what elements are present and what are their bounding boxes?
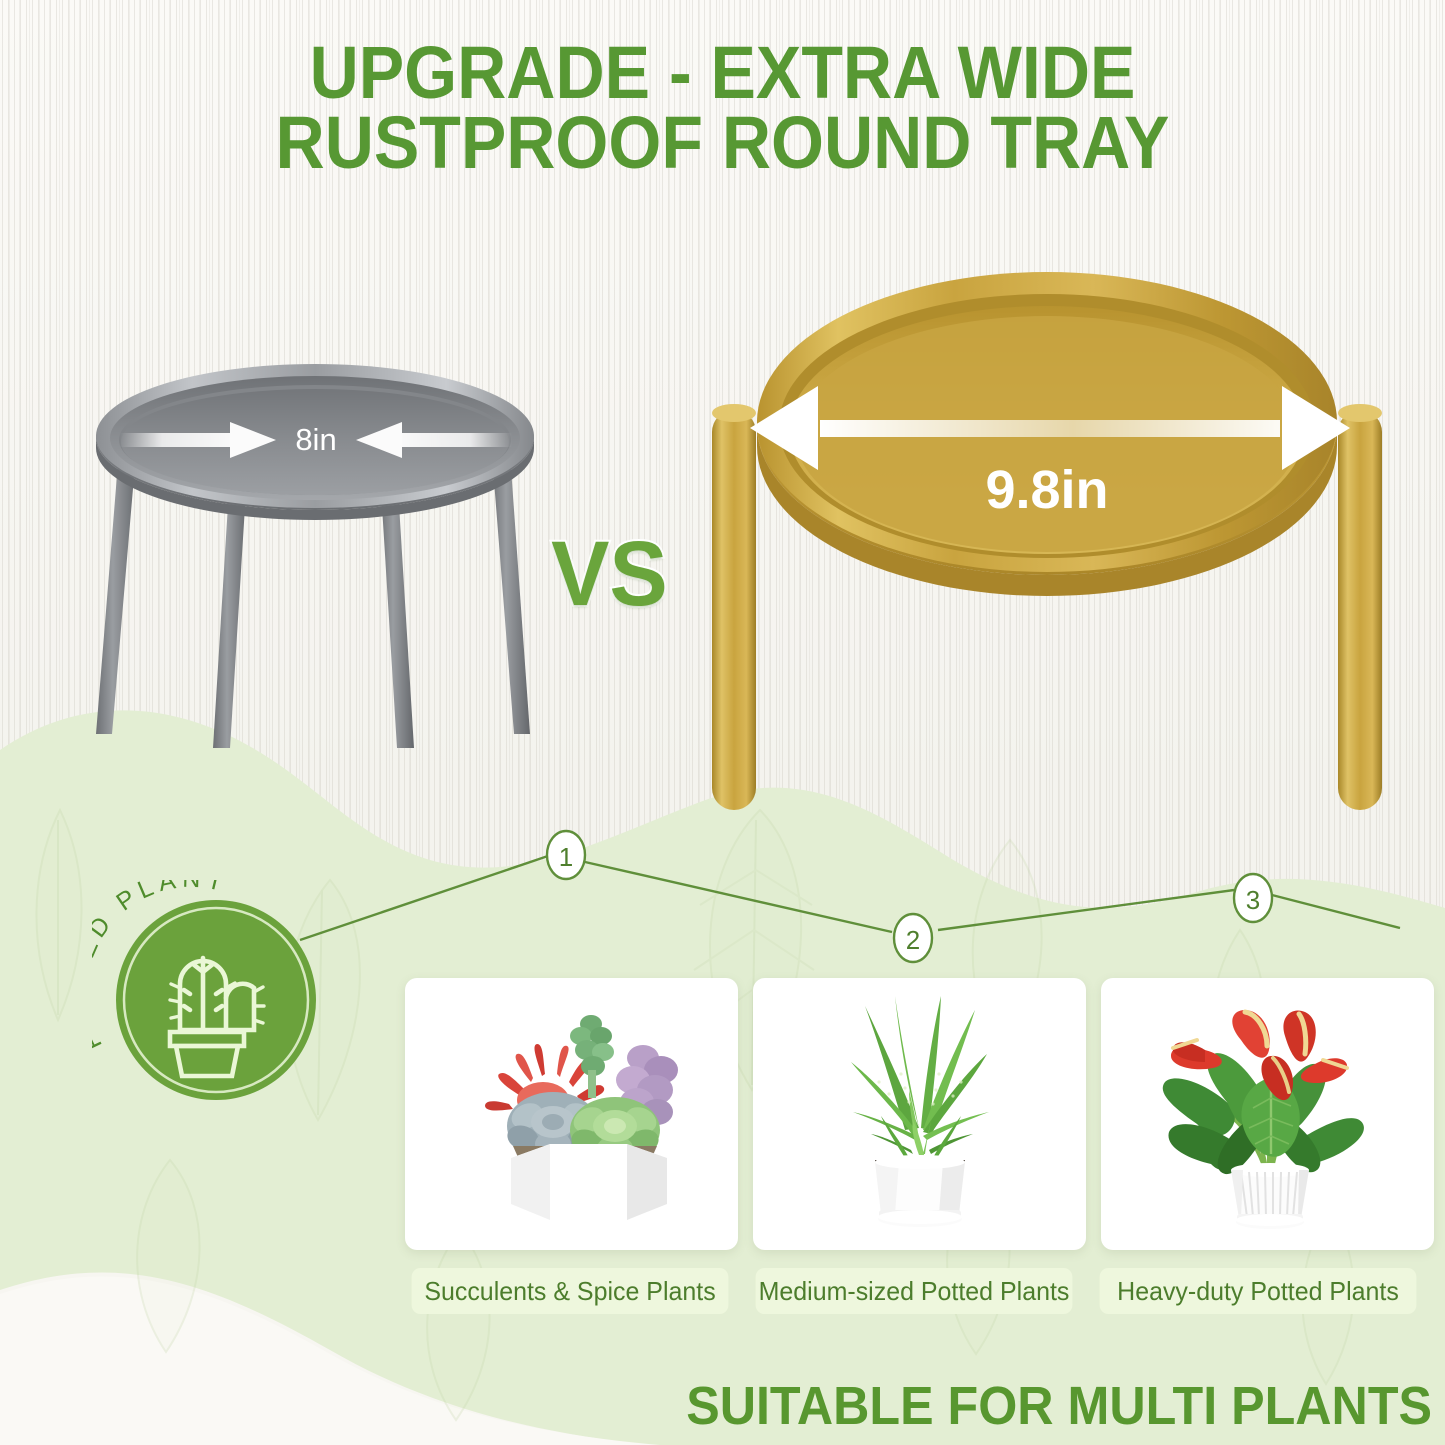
title-line-1: UPGRADE - EXTRA WIDE (58, 38, 1387, 108)
product-card-heavy[interactable] (1101, 978, 1434, 1250)
product-card-list (405, 978, 1435, 1253)
card-label-2: Medium-sized Potted Plants (756, 1268, 1073, 1314)
white-round-pot (875, 1155, 965, 1227)
gold-dimension-label: 9.8in (985, 460, 1108, 520)
svg-text:1: 1 (559, 842, 573, 872)
step-node-1: 1 (547, 831, 585, 879)
aloe-leaves (851, 996, 989, 1160)
svg-text:2: 2 (906, 925, 920, 955)
card-label-3: Heavy-duty Potted Plants (1100, 1268, 1417, 1314)
step-node-2: 2 (894, 914, 932, 962)
card-label-list: Succulents & Spice Plants Medium-sized P… (405, 1268, 1440, 1314)
succulent-assortment-photo (405, 978, 738, 1250)
svg-text:3: 3 (1246, 885, 1260, 915)
header-title: UPGRADE - EXTRA WIDE RUSTPROOF ROUND TRA… (0, 38, 1445, 178)
potted-plant-badge: POTTED PLANT (92, 880, 322, 1110)
title-line-2: RUSTPROOF ROUND TRAY (58, 108, 1387, 178)
aloe-plant-photo (753, 978, 1086, 1250)
product-card-succulents[interactable] (405, 978, 738, 1250)
anthurium-plant-photo (1101, 978, 1434, 1250)
product-card-medium[interactable] (753, 978, 1086, 1250)
white-ribbed-pot (1231, 1163, 1309, 1229)
silver-dimension-label: 8in (295, 422, 336, 457)
card-label-1: Succulents & Spice Plants (412, 1268, 729, 1314)
footer-headline: SUITABLE FOR MULTI PLANTS (100, 1378, 1432, 1434)
infographic-canvas: UPGRADE - EXTRA WIDE RUSTPROOF ROUND TRA… (0, 0, 1445, 1445)
step-node-3: 3 (1234, 874, 1272, 922)
vs-label: VS (551, 528, 668, 620)
white-hexagon-pot (511, 1144, 667, 1220)
